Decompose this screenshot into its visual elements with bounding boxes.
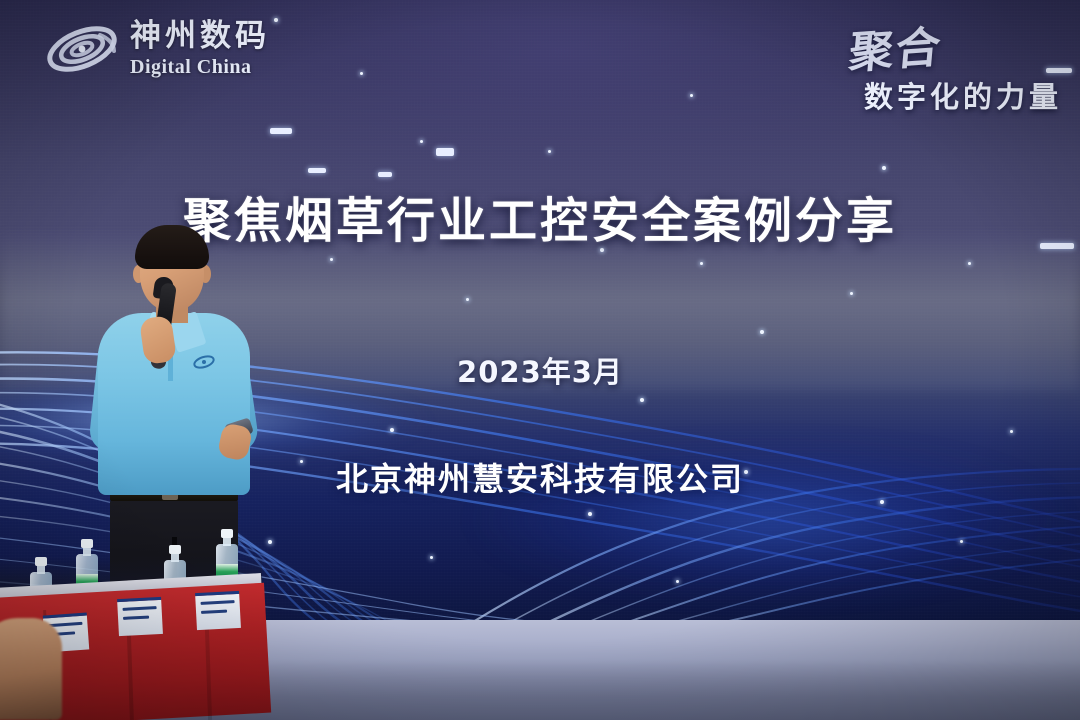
event-slogan-main: 聚合: [847, 11, 945, 81]
light-particle: [1010, 430, 1013, 433]
light-dash: [378, 172, 392, 177]
light-particle: [700, 262, 703, 265]
light-particle: [588, 512, 592, 516]
name-card: [117, 597, 163, 636]
foreground-attendee: [0, 618, 62, 720]
conference-stage-photo: 神州数码 Digital China 聚合 数字化的力量 聚焦烟草行业工控安全案…: [0, 0, 1080, 720]
light-particle: [420, 140, 423, 143]
light-particle: [690, 94, 693, 97]
light-particle: [880, 500, 884, 504]
presenter-chest-logo-icon: [192, 353, 216, 371]
light-dash: [308, 168, 326, 173]
event-slogan-sub: 数字化的力量: [850, 74, 1062, 116]
presenter-hair: [135, 225, 209, 269]
brand-logo: 神州数码 Digital China: [44, 18, 270, 80]
light-dash: [436, 148, 454, 156]
name-card: [195, 591, 241, 630]
light-particle: [330, 258, 333, 261]
light-particle: [760, 330, 764, 334]
event-slogan: 聚合 数字化的力量: [850, 14, 1062, 116]
light-particle: [960, 540, 963, 543]
digital-china-swirl-logo-icon: [44, 18, 120, 80]
light-particle: [882, 166, 886, 170]
light-particle: [850, 292, 853, 295]
light-dash: [270, 128, 292, 134]
brand-name-cn: 神州数码: [130, 21, 270, 52]
light-particle: [274, 18, 278, 22]
light-particle: [360, 72, 363, 75]
light-particle: [968, 262, 971, 265]
light-particle: [430, 556, 433, 559]
light-particle: [466, 298, 469, 301]
brand-name-en: Digital China: [130, 57, 270, 77]
light-particle: [390, 428, 394, 432]
light-particle: [640, 398, 644, 402]
light-particle: [548, 150, 551, 153]
light-particle: [676, 580, 679, 583]
